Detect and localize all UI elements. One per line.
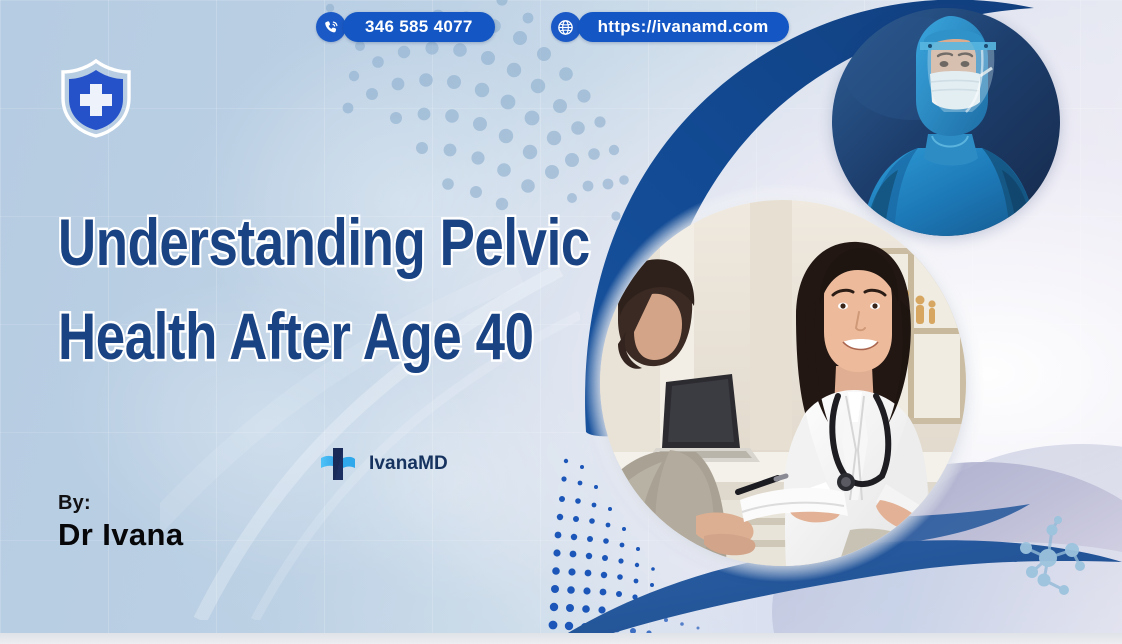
banner-canvas: 346 585 4077 https://ivanamd.com Underst…	[0, 0, 1122, 644]
byline: By: Dr Ivana	[58, 492, 184, 553]
molecule-icon	[1002, 514, 1094, 602]
website-url-pill[interactable]: https://ivanamd.com	[578, 12, 789, 42]
shield-cross-icon	[58, 58, 134, 138]
bottom-strip	[0, 633, 1122, 644]
healthcare-worker-photo	[832, 8, 1060, 236]
website-contact[interactable]: https://ivanamd.com	[551, 12, 789, 42]
title-line-1: Understanding Pelvic	[58, 196, 490, 290]
title-line-2: Health After Age 40	[58, 290, 490, 384]
phone-number-pill[interactable]: 346 585 4077	[343, 12, 495, 42]
phone-contact[interactable]: 346 585 4077	[316, 12, 495, 42]
ivanamd-cross-logo-icon	[320, 446, 356, 482]
globe-icon	[551, 12, 581, 42]
page-title: Understanding Pelvic Health After Age 40	[58, 196, 490, 383]
byline-author-name: Dr Ivana	[58, 516, 184, 553]
contact-bar: 346 585 4077 https://ivanamd.com	[316, 12, 789, 42]
brand-name: IvanaMD	[369, 453, 448, 475]
phone-icon	[316, 12, 346, 42]
doctor-patient-consultation-photo	[600, 200, 966, 566]
byline-label: By:	[58, 492, 184, 515]
brand-logo[interactable]: IvanaMD	[320, 446, 448, 482]
